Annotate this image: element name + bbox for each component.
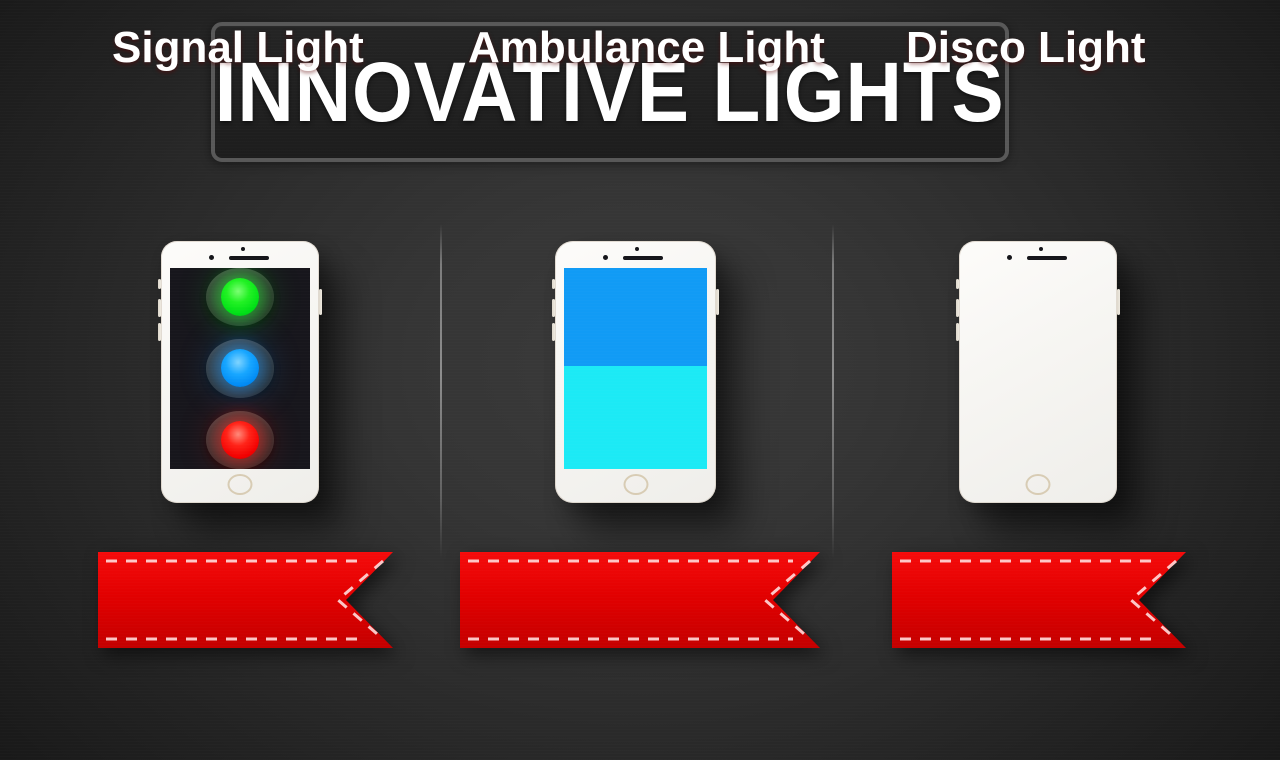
sensor-dot-icon [635,247,639,251]
column-divider-right [832,224,834,558]
sensor-dot-icon [1039,247,1043,251]
phone-top-bezel [555,241,716,265]
home-button[interactable] [228,474,253,495]
bulb-green-icon [221,278,259,316]
screen-signal-light[interactable] [170,268,310,469]
home-button[interactable] [623,474,648,495]
camera-dot-icon [209,255,214,260]
lamp-red[interactable] [206,411,274,469]
screen-ambulance-light[interactable] [564,268,707,469]
phone-top-bezel [161,241,319,265]
mute-switch-icon [552,279,555,289]
ribbon-signal-light [98,552,393,648]
sensor-dot-icon [241,247,245,251]
volume-up-button [956,299,959,317]
phone-top-bezel [959,241,1117,265]
camera-dot-icon [603,255,608,260]
phone-disco-light[interactable] [959,241,1117,503]
page-title: INNOVATIVE LIGHTS [215,50,1005,134]
poster-stage: INNOVATIVE LIGHTS [0,0,1280,760]
ribbon-ambulance-light [460,552,820,648]
band-cyan [564,366,707,469]
phone-signal-light[interactable] [161,241,319,503]
home-button[interactable] [1026,474,1051,495]
column-divider-left [440,224,442,558]
bulb-blue-icon [221,349,259,387]
ribbon-disco-light [892,552,1186,648]
power-button [1117,289,1120,315]
band-blue [564,268,707,366]
phone-ambulance-light[interactable] [555,241,716,503]
bulb-red-icon [221,421,259,459]
power-button [716,289,719,315]
volume-up-button [552,299,555,317]
volume-down-button [956,323,959,341]
page-title-box: INNOVATIVE LIGHTS [211,22,1009,162]
mute-switch-icon [158,279,161,289]
volume-up-button [158,299,161,317]
volume-down-button [158,323,161,341]
lamp-blue[interactable] [206,339,274,397]
speaker-grille-icon [1027,256,1067,260]
lamp-green[interactable] [206,268,274,326]
power-button [319,289,322,315]
speaker-grille-icon [229,256,269,260]
speaker-grille-icon [623,256,663,260]
volume-down-button [552,323,555,341]
mute-switch-icon [956,279,959,289]
camera-dot-icon [1007,255,1012,260]
